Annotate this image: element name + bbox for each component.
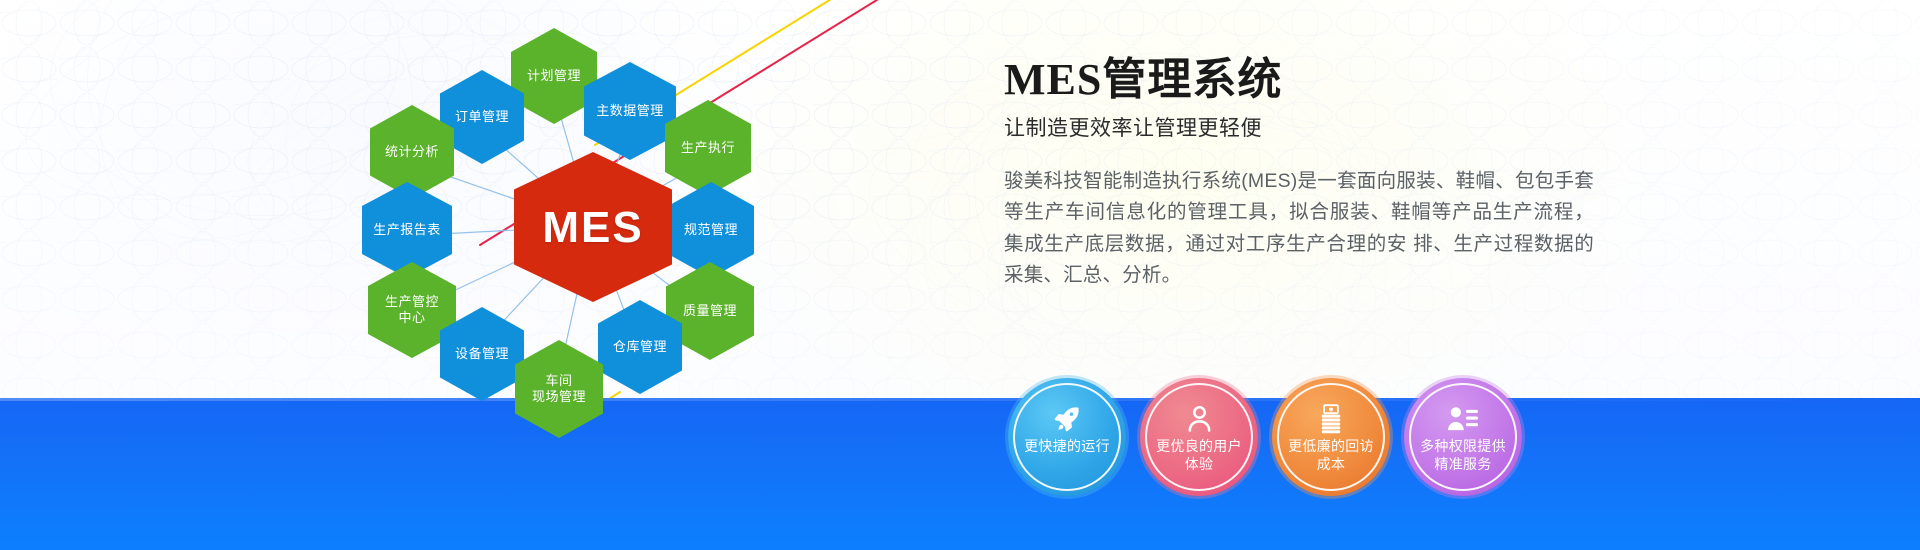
money-stack-icon [1317, 404, 1345, 434]
hero-description: 骏美科技智能制造执行系统(MES)是一套面向服装、鞋帽、包包手套等生产车间信息化… [1004, 166, 1594, 292]
badge-label: 更低廉的回访 成本 [1282, 438, 1380, 473]
feature-badges: 更快捷的运行 更优良的用户 体验 [1008, 378, 1522, 496]
hero-content: MES管理系统 让制造更效率让管理更轻便 骏美科技智能制造执行系统(MES)是一… [1004, 56, 1594, 292]
hex-label: 设备管理 [455, 346, 509, 362]
hex-label: 主数据管理 [596, 103, 664, 119]
hex-label: 计划管理 [527, 68, 581, 84]
hex-label: 质量管理 [683, 303, 737, 319]
hex-label: 统计分析 [385, 144, 439, 160]
hex-label: 生产执行 [681, 140, 735, 156]
badge-label: 多种权限提供 精准服务 [1414, 438, 1512, 473]
hex-label: 生产报告表 [373, 222, 441, 238]
hex-label: 车间 现场管理 [532, 373, 586, 406]
badge-permissions[interactable]: 多种权限提供 精准服务 [1404, 378, 1522, 496]
page-title: MES管理系统 [1004, 56, 1594, 104]
badge-lower-cost[interactable]: 更低廉的回访 成本 [1272, 378, 1390, 496]
hex-label: 生产管控 中心 [385, 294, 439, 327]
badge-faster-operation[interactable]: 更快捷的运行 [1008, 378, 1126, 496]
hero-banner: 计划管理 订单管理 主数据管理 统计分析 生产执行 生产报告表 规范管理 生产管… [0, 0, 1920, 550]
core-label: MES [542, 200, 643, 255]
user-list-icon [1447, 404, 1479, 434]
rocket-icon [1052, 404, 1082, 434]
bottom-blue-band [0, 398, 1920, 550]
badge-label: 更快捷的运行 [1018, 438, 1116, 456]
hex-label: 规范管理 [684, 222, 738, 238]
page-subtitle: 让制造更效率让管理更轻便 [1004, 112, 1594, 142]
badge-better-experience[interactable]: 更优良的用户 体验 [1140, 378, 1258, 496]
hex-label: 订单管理 [455, 109, 509, 125]
mes-hexagon-diagram: 计划管理 订单管理 主数据管理 统计分析 生产执行 生产报告表 规范管理 生产管… [340, 0, 860, 450]
user-icon [1185, 404, 1214, 434]
badge-label: 更优良的用户 体验 [1150, 438, 1248, 473]
hex-label: 仓库管理 [613, 339, 667, 355]
